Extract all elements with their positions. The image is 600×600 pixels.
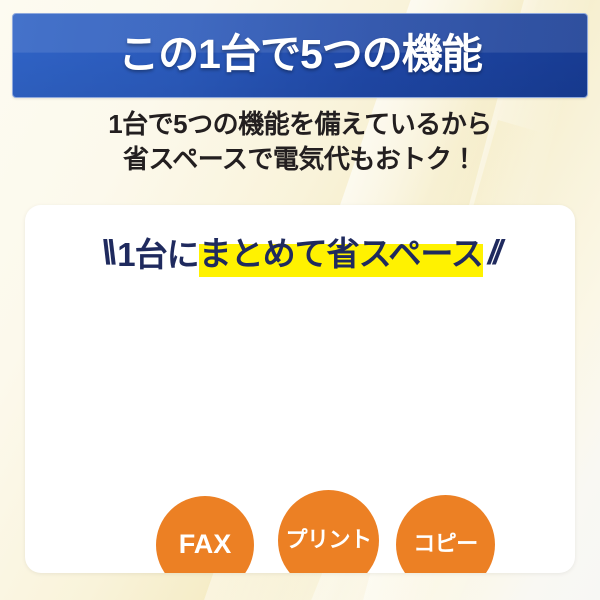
heading-highlighted-text: まとめて省スペース	[199, 227, 483, 277]
heading-slash-right-icon: //	[488, 234, 499, 273]
heading-plain-prefix: 1台に	[117, 228, 198, 276]
heading-slash-left-icon: \\	[101, 234, 112, 273]
feature-bubble-print-label: プリント	[285, 529, 371, 551]
feature-bubble-fax[interactable]: FAX	[156, 496, 254, 573]
subtitle-line-2: 省スペースで電気代もおトク！	[0, 142, 600, 177]
subtitle-block: 1台で5つの機能を備えているから 省スペースで電気代もおトク！	[0, 107, 600, 178]
advertisement-page: この1台で5つの機能 1台で5つの機能を備えているから 省スペースで電気代もおト…	[0, 0, 600, 600]
feature-bubble-print[interactable]: プリント	[278, 490, 379, 573]
feature-card: \\1台にまとめて省スペース// FAX プリント コピー 電話 スキャン	[25, 205, 575, 573]
subtitle-line-1: 1台で5つの機能を備えているから	[0, 107, 600, 142]
feature-bubble-fax-label: FAX	[179, 531, 232, 558]
banner-title: この1台で5つの機能	[118, 34, 482, 75]
feature-bubble-copy-label: コピー	[413, 533, 478, 555]
feature-bubble-copy[interactable]: コピー	[396, 495, 495, 573]
card-heading: \\1台にまとめて省スペース//	[25, 227, 575, 277]
header-banner: この1台で5つの機能	[12, 13, 588, 98]
